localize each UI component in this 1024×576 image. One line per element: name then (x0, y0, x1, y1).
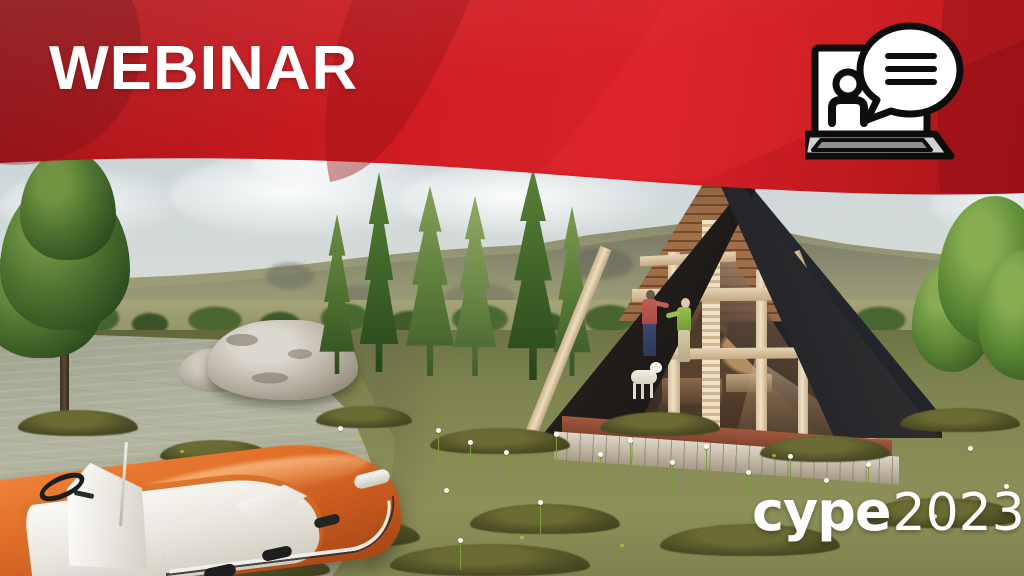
page-title: WEBINAR (49, 38, 358, 100)
flower (444, 488, 449, 493)
flower (968, 446, 973, 451)
flower (338, 426, 343, 431)
flower-stem (470, 444, 471, 472)
flower (458, 538, 463, 543)
grass-clump (390, 544, 590, 576)
flower (746, 470, 751, 475)
flower (598, 452, 603, 457)
cype-year-text: 2023 (893, 489, 1024, 538)
flower (628, 438, 633, 443)
webinar-promo-banner: WEBINAR cype (0, 0, 1024, 576)
flower (670, 460, 675, 465)
dog-head (650, 362, 662, 373)
cype-logo: cype 2023 (752, 486, 1024, 538)
yellow-bloom (356, 436, 360, 439)
yellow-bloom (772, 454, 776, 457)
inflatable-boat (0, 440, 410, 576)
flower-stem (706, 448, 707, 476)
flower (538, 500, 543, 505)
flower (504, 450, 509, 455)
flower (704, 444, 709, 449)
yellow-bloom (520, 536, 524, 539)
flower (788, 454, 793, 459)
flower-stem (556, 436, 557, 462)
grass-clump (430, 428, 570, 454)
yellow-bloom (620, 544, 624, 547)
flower-stem (600, 456, 601, 488)
grass-clump (600, 412, 720, 436)
flower-stem (630, 442, 631, 470)
person-legs (643, 324, 656, 356)
webinar-laptop-icon (805, 20, 965, 170)
grass-clump (470, 504, 620, 534)
speech-bubble-icon (860, 26, 960, 120)
flower (468, 440, 473, 445)
flower-stem (540, 504, 541, 534)
flower-stem (672, 464, 673, 494)
grass-clump (18, 410, 138, 436)
flower-stem (748, 474, 749, 504)
grass-clump (316, 406, 412, 428)
flower (554, 432, 559, 437)
flower-stem (438, 432, 439, 462)
flower (866, 462, 871, 467)
cype-brand-text: cype (752, 486, 891, 537)
flower (436, 428, 441, 433)
flower-stem (506, 454, 507, 484)
grass-clump (900, 408, 1020, 432)
grass-clump (760, 436, 890, 462)
person-legs (678, 330, 690, 362)
flower-stem (460, 542, 461, 570)
